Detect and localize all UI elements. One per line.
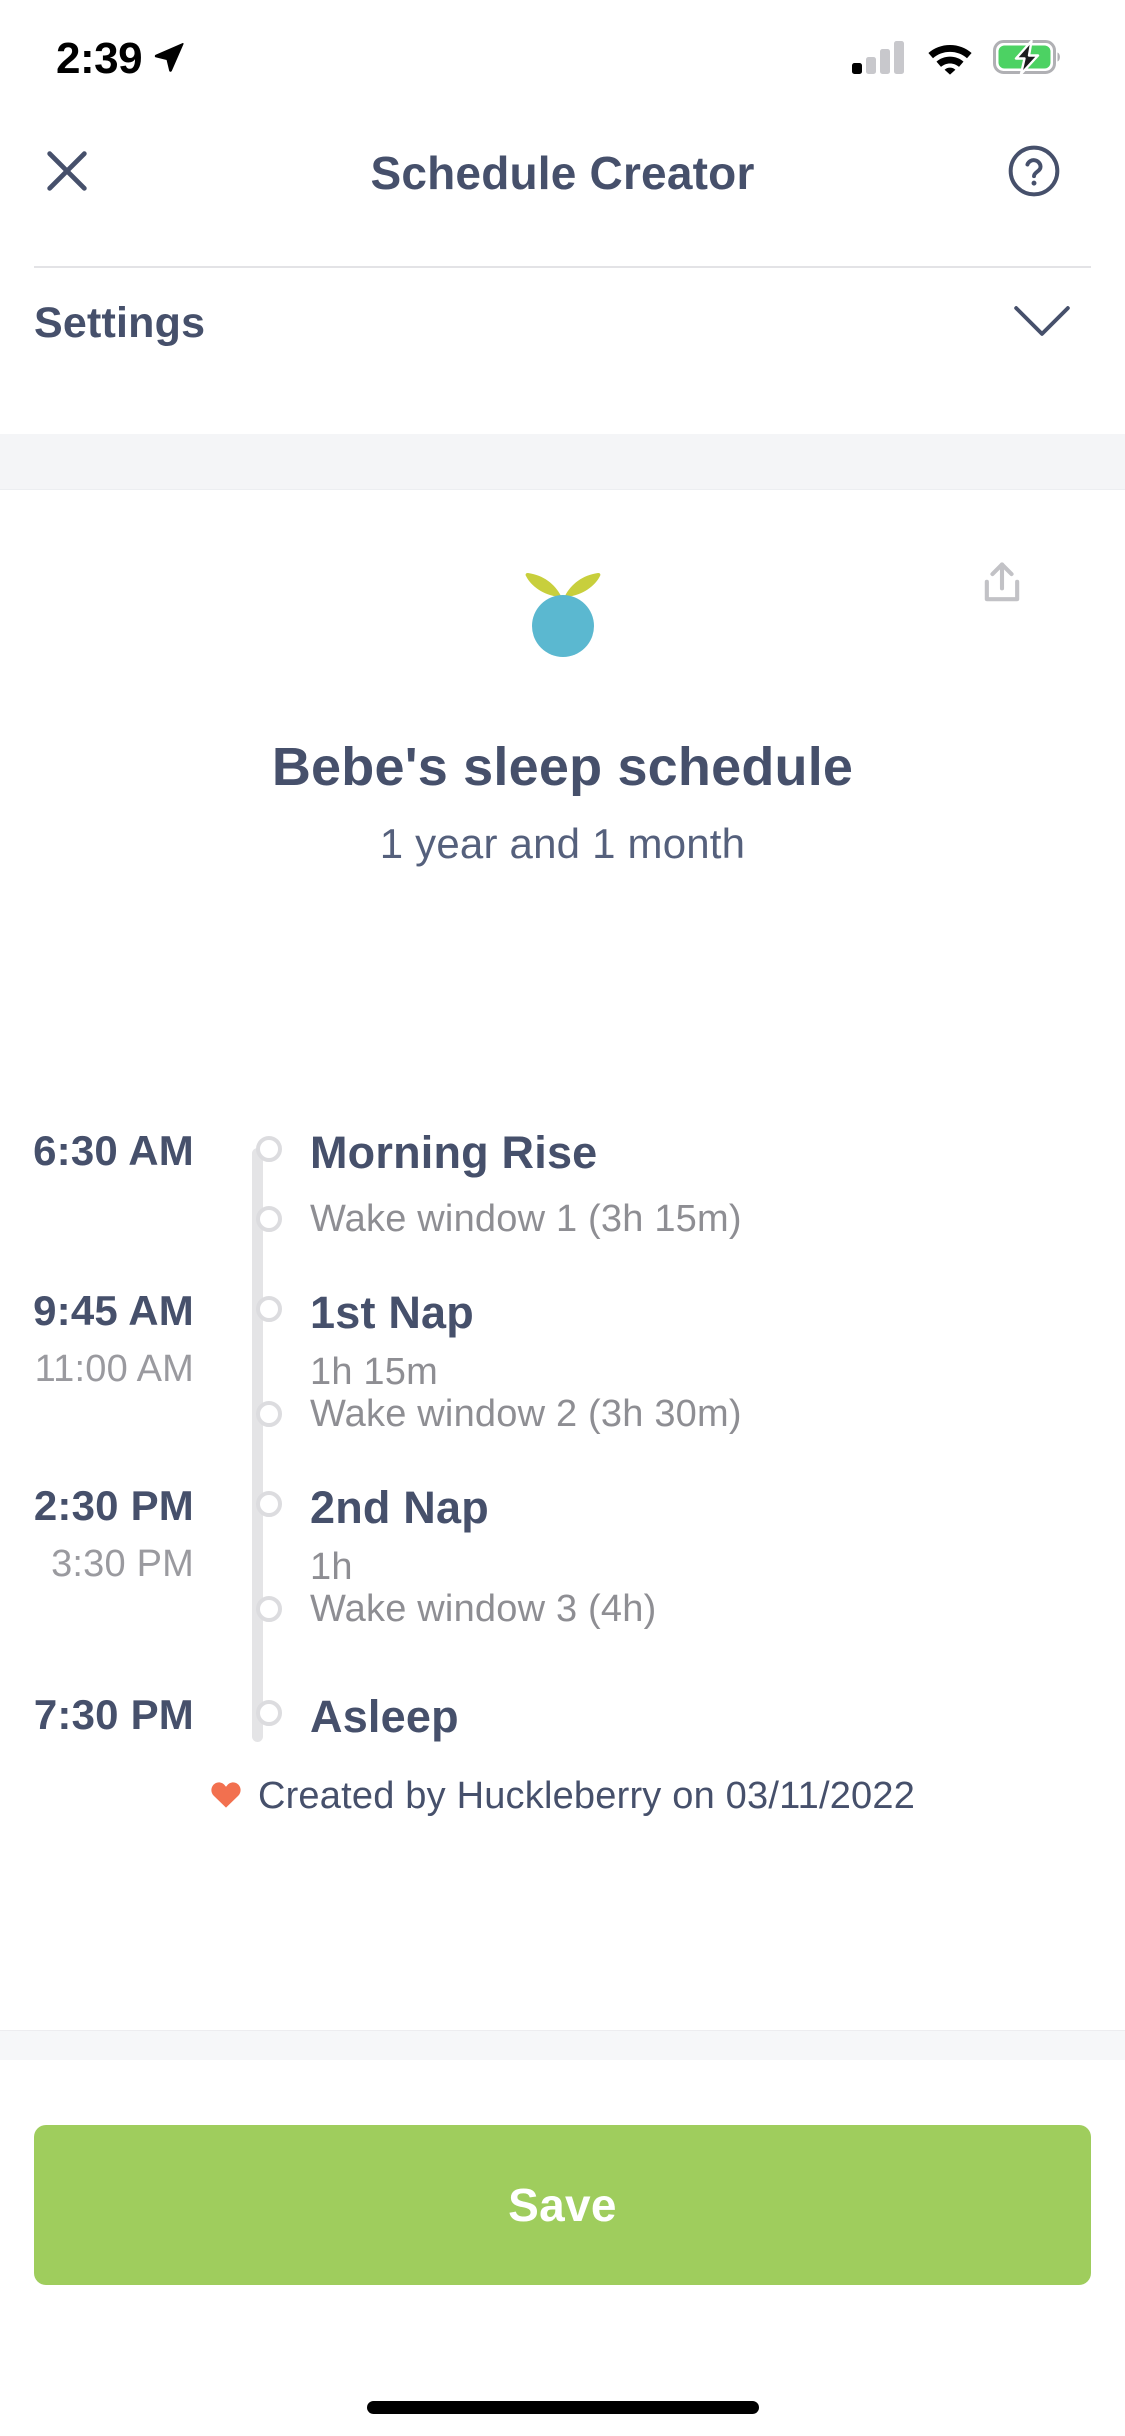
timeline-time-start: 2:30 PM bbox=[0, 1485, 194, 1527]
timeline-time-start: 7:30 PM bbox=[0, 1694, 194, 1736]
timeline-dot-icon bbox=[256, 1700, 282, 1726]
huckleberry-berry-logo bbox=[503, 550, 623, 665]
close-icon bbox=[41, 145, 93, 202]
settings-accordion[interactable]: Settings bbox=[0, 268, 1125, 378]
timeline-row: Wake window 2 (3h 30m) bbox=[0, 1395, 1125, 1433]
timeline-dot-icon bbox=[256, 1296, 282, 1322]
save-button[interactable]: Save bbox=[34, 2125, 1091, 2285]
cellular-signal-icon bbox=[851, 39, 907, 80]
home-indicator bbox=[367, 2401, 759, 2414]
help-button[interactable] bbox=[1001, 140, 1067, 206]
status-time: 2:39 bbox=[56, 34, 142, 84]
timeline-row[interactable]: 2:30 PM 3:30 PM 2nd Nap 1h bbox=[0, 1485, 1125, 1586]
timeline-wake-window-label: Wake window 1 (3h 15m) bbox=[310, 1200, 1125, 1238]
schedule-card: Bebe's sleep schedule 1 year and 1 month… bbox=[0, 490, 1125, 2030]
schedule-subtitle: 1 year and 1 month bbox=[0, 820, 1125, 868]
timeline-content: Asleep bbox=[310, 1694, 1125, 1739]
timeline-time-start: 9:45 AM bbox=[0, 1290, 194, 1332]
timeline-content: Wake window 3 (4h) bbox=[310, 1590, 1125, 1628]
timeline-time: 7:30 PM bbox=[0, 1694, 228, 1736]
timeline-node bbox=[228, 1130, 310, 1162]
status-bar-right bbox=[851, 39, 1063, 80]
timeline-content: Morning Rise bbox=[310, 1130, 1125, 1175]
timeline-row[interactable]: 9:45 AM 11:00 AM 1st Nap 1h 15m bbox=[0, 1290, 1125, 1391]
timeline-content: 1st Nap 1h 15m bbox=[310, 1290, 1125, 1391]
timeline-wake-window-label: Wake window 3 (4h) bbox=[310, 1590, 1125, 1628]
page-title: Schedule Creator bbox=[0, 146, 1125, 200]
timeline-time: 2:30 PM 3:30 PM bbox=[0, 1485, 228, 1583]
timeline-dot-icon bbox=[256, 1206, 282, 1232]
timeline-label: Morning Rise bbox=[310, 1130, 1125, 1175]
timeline-node bbox=[228, 1485, 310, 1517]
location-arrow-icon bbox=[152, 40, 186, 79]
app-header: Schedule Creator bbox=[0, 118, 1125, 228]
share-icon bbox=[976, 558, 1028, 615]
timeline-node bbox=[228, 1694, 310, 1726]
share-button[interactable] bbox=[974, 558, 1030, 614]
section-separator-bottom bbox=[0, 2030, 1125, 2060]
brand-logo-wrap bbox=[0, 550, 1125, 665]
timeline-node bbox=[228, 1395, 310, 1427]
timeline-content: Wake window 2 (3h 30m) bbox=[310, 1395, 1125, 1433]
timeline-row[interactable]: 7:30 PM Asleep bbox=[0, 1694, 1125, 1739]
timeline-row: Wake window 3 (4h) bbox=[0, 1590, 1125, 1628]
timeline-dot-icon bbox=[256, 1136, 282, 1162]
app-screen: 2:39 bbox=[0, 0, 1125, 2436]
timeline-content: 2nd Nap 1h bbox=[310, 1485, 1125, 1586]
schedule-title: Bebe's sleep schedule bbox=[0, 736, 1125, 798]
timeline-dot-icon bbox=[256, 1491, 282, 1517]
timeline-time: 9:45 AM 11:00 AM bbox=[0, 1290, 228, 1388]
timeline-label: 1st Nap bbox=[310, 1290, 1125, 1335]
timeline-dot-icon bbox=[256, 1596, 282, 1622]
timeline-content: Wake window 1 (3h 15m) bbox=[310, 1200, 1125, 1238]
timeline-wake-window-label: Wake window 2 (3h 30m) bbox=[310, 1395, 1125, 1433]
timeline-duration: 1h 15m bbox=[310, 1353, 1125, 1391]
timeline-row[interactable]: 6:30 AM Morning Rise bbox=[0, 1130, 1125, 1175]
timeline-row: Wake window 1 (3h 15m) bbox=[0, 1200, 1125, 1238]
timeline-time-end: 3:30 PM bbox=[0, 1545, 194, 1583]
timeline-label: Asleep bbox=[310, 1694, 1125, 1739]
timeline-node bbox=[228, 1290, 310, 1322]
timeline-node bbox=[228, 1590, 310, 1622]
status-bar-left: 2:39 bbox=[56, 34, 186, 84]
timeline-dot-icon bbox=[256, 1401, 282, 1427]
wifi-icon bbox=[925, 39, 975, 80]
timeline-time-start: 6:30 AM bbox=[0, 1130, 194, 1172]
timeline-duration: 1h bbox=[310, 1548, 1125, 1586]
timeline-time: 6:30 AM bbox=[0, 1130, 228, 1172]
credit-line: Created by Huckleberry on 03/11/2022 bbox=[0, 1775, 1125, 1818]
heart-icon bbox=[210, 1779, 242, 1814]
timeline-time-end: 11:00 AM bbox=[0, 1350, 194, 1388]
close-button[interactable] bbox=[34, 140, 100, 206]
credit-text: Created by Huckleberry on 03/11/2022 bbox=[258, 1775, 915, 1818]
section-separator-top bbox=[0, 434, 1125, 490]
timeline-node bbox=[228, 1200, 310, 1232]
help-circle-icon bbox=[1006, 143, 1062, 204]
timeline-label: 2nd Nap bbox=[310, 1485, 1125, 1530]
chevron-down-icon[interactable] bbox=[1011, 301, 1073, 346]
status-bar: 2:39 bbox=[0, 0, 1125, 118]
settings-label: Settings bbox=[34, 299, 205, 348]
battery-charging-icon bbox=[993, 40, 1063, 79]
